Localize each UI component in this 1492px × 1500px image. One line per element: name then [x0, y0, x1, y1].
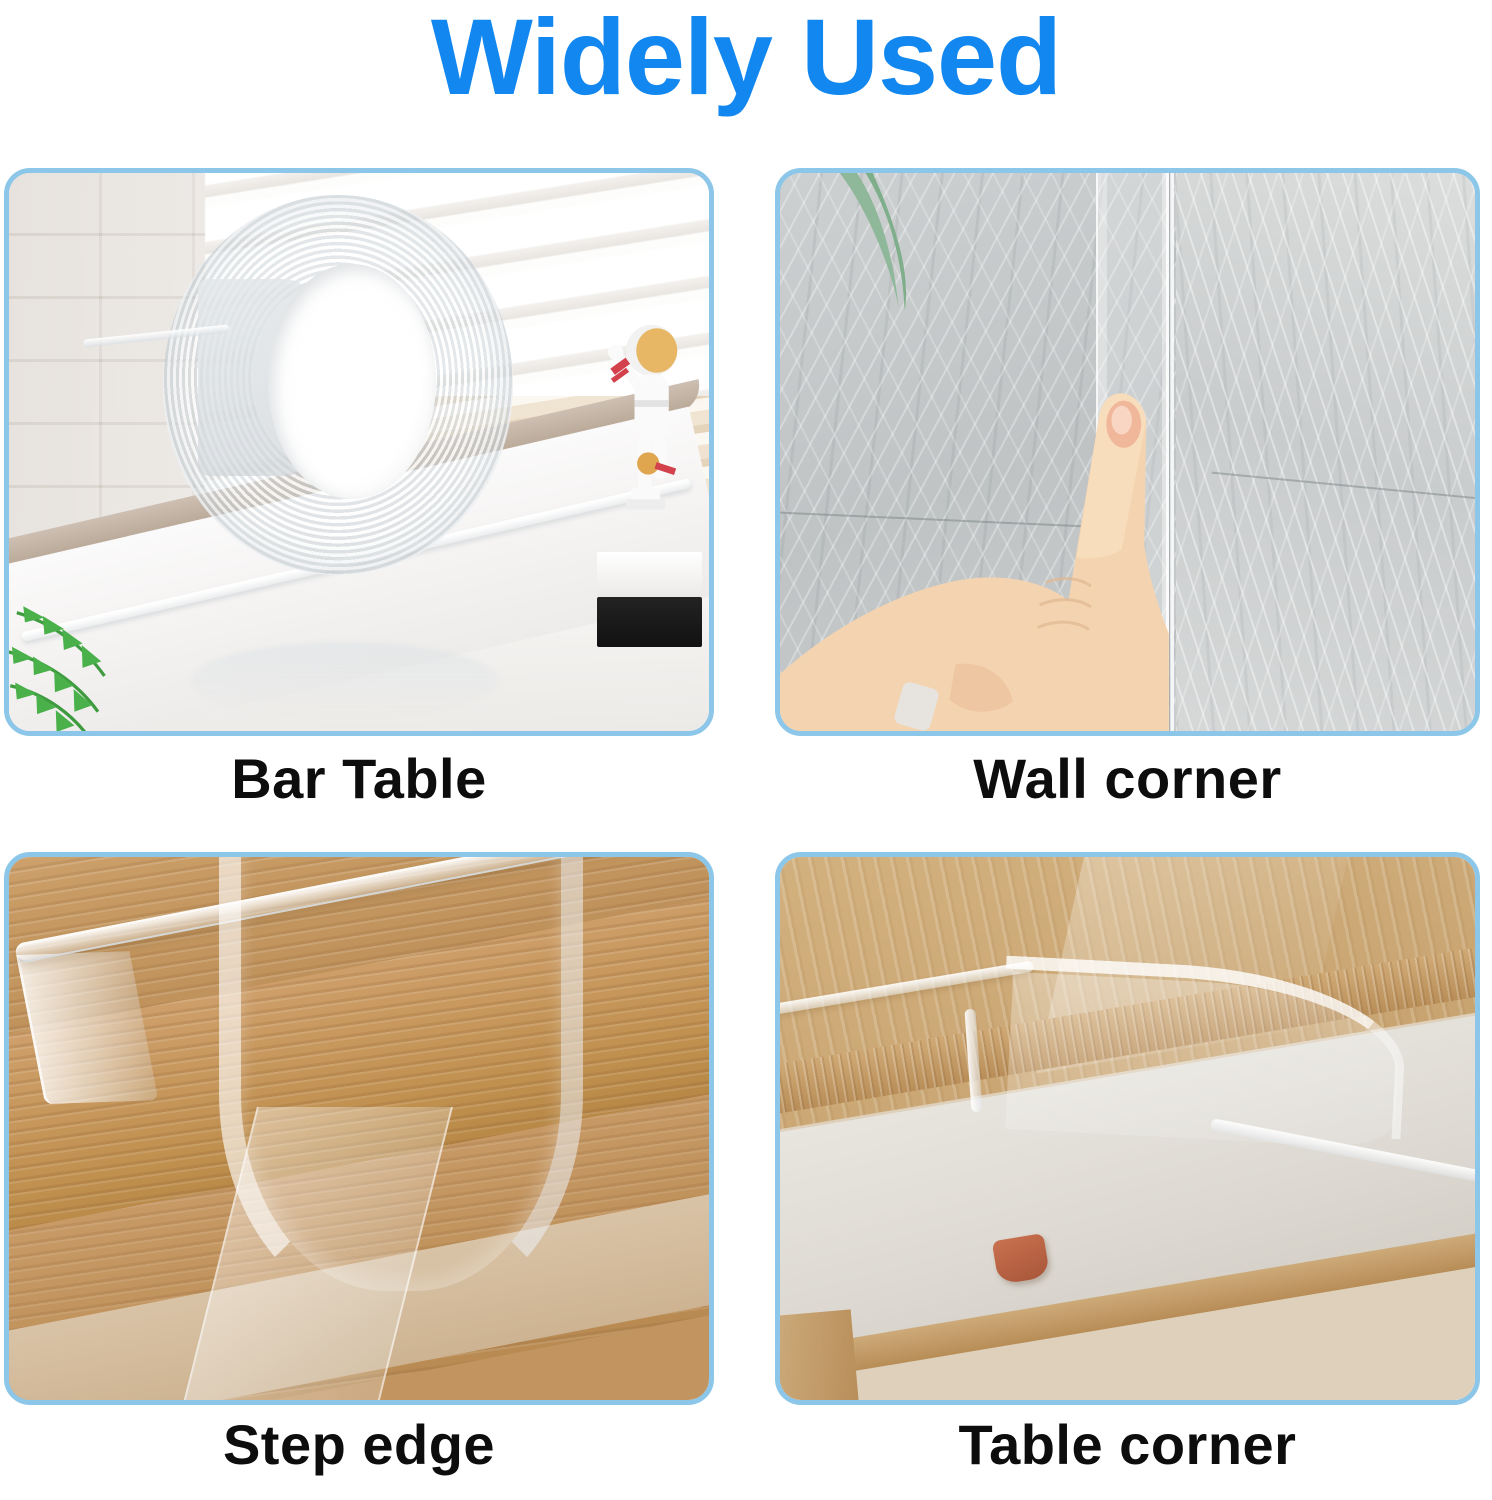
header: Widely Used — [0, 0, 1492, 155]
page-title: Widely Used — [431, 0, 1061, 112]
fern-plant — [9, 564, 149, 731]
tape-roll — [163, 195, 513, 574]
tape-roll-reflection — [191, 642, 499, 720]
photo-wall-corner — [775, 168, 1480, 736]
panel-bar-table: Bar Table — [4, 168, 714, 736]
panel-wall-corner: Wall corner — [775, 168, 1480, 736]
panel-caption-bar-table: Bar Table — [4, 746, 714, 811]
panel-table-corner: Table corner — [775, 852, 1480, 1405]
photo-step-edge — [4, 852, 714, 1405]
panel-step-edge: Step edge — [4, 852, 714, 1405]
panel-caption-table-corner: Table corner — [775, 1412, 1480, 1477]
photo-table-corner — [775, 852, 1480, 1405]
pointing-hand — [780, 318, 1169, 731]
usage-panel-grid: Bar Table — [0, 160, 1492, 1500]
tape-roll-core-hole — [268, 264, 436, 499]
dark-box — [597, 597, 702, 647]
desk-leg — [780, 1309, 861, 1400]
panel-caption-wall-corner: Wall corner — [775, 746, 1480, 811]
panel-caption-step-edge: Step edge — [4, 1412, 714, 1477]
photo-bar-table — [4, 168, 714, 736]
astronaut-figurine — [601, 318, 692, 575]
marble-tile-right — [1176, 173, 1475, 731]
book-stack — [597, 552, 702, 597]
